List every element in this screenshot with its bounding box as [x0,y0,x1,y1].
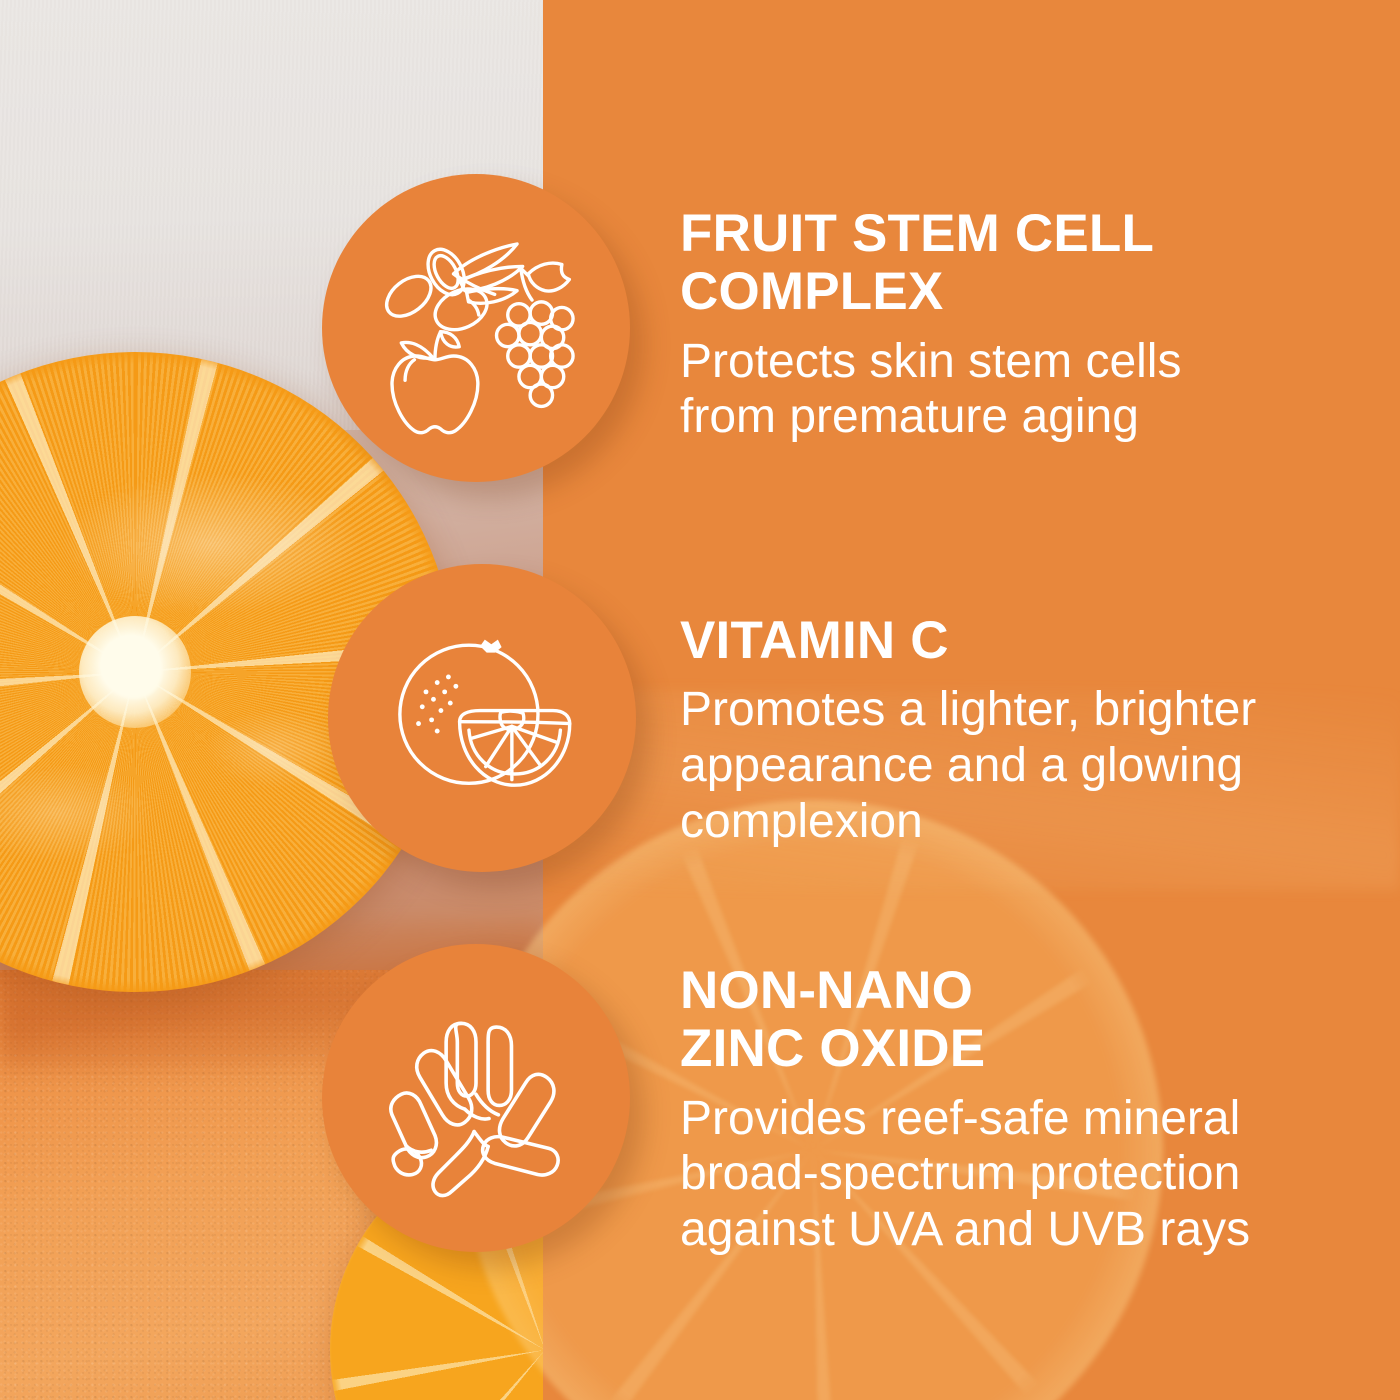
feature-text-fruit-stem-cell: FRUIT STEM CELL COMPLEX Protects skin st… [680,205,1320,445]
coral-branch-icon [364,986,588,1210]
feature-title: VITAMIN C [680,612,1340,670]
vitamin-c-icon [370,606,594,830]
feature-description: Protects skin stem cells from premature … [680,334,1320,445]
feature-badge-vitamin-c[interactable] [328,564,636,872]
feature-description: Provides reef-safe mineral broad-spectru… [680,1091,1360,1258]
slice-pith-core [79,616,191,728]
feature-badge-fruit-stem-cell[interactable] [322,174,630,482]
feature-description: Promotes a lighter, brighter appearance … [680,682,1340,849]
fruit-stem-cell-icon [364,216,588,440]
feature-text-zinc-oxide: NON-NANO ZINC OXIDE Provides reef-safe m… [680,962,1360,1258]
infographic-canvas: FRUIT STEM CELL COMPLEX Protects skin st… [0,0,1400,1400]
feature-title: FRUIT STEM CELL COMPLEX [680,205,1320,322]
feature-text-vitamin-c: VITAMIN C Promotes a lighter, brighter a… [680,612,1340,849]
feature-title: NON-NANO ZINC OXIDE [680,962,1360,1079]
feature-badge-zinc-oxide[interactable] [322,944,630,1252]
